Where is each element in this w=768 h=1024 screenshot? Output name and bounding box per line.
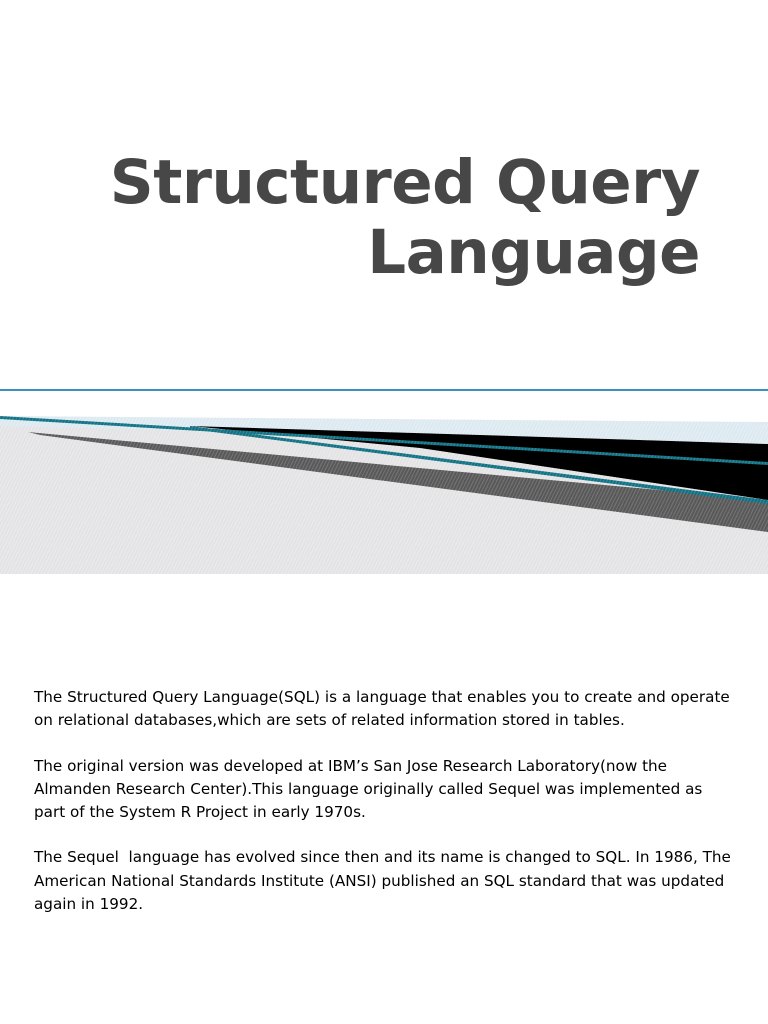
body-paragraph: The Sequel language has evolved since th…	[34, 846, 734, 916]
slide-title: Structured Query Language	[68, 148, 700, 287]
slide-body: The Structured Query Language(SQL) is a …	[34, 686, 734, 916]
presentation-slide: Structured Query Language The Structured…	[0, 0, 768, 1024]
slide-title-text: Structured Query Language	[68, 148, 700, 287]
accent-rule	[0, 389, 768, 391]
wedge-banner-graphic	[0, 404, 768, 576]
decorative-wedge-banner	[0, 404, 768, 576]
body-paragraph: The Structured Query Language(SQL) is a …	[34, 686, 734, 733]
body-paragraph: The original version was developed at IB…	[34, 755, 734, 825]
